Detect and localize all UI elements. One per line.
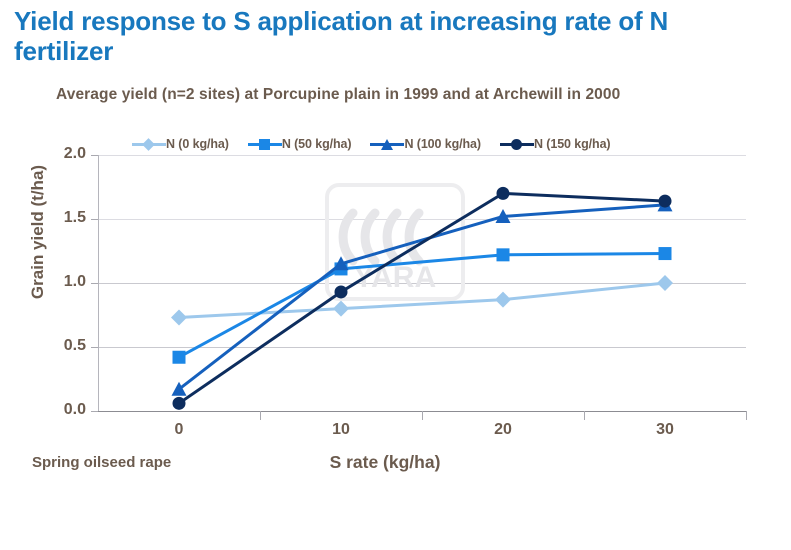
x-tick-boundary-3 (584, 411, 585, 420)
y-tick-label-0-5: 0.5 (42, 337, 86, 355)
y-tick-1-5 (91, 219, 98, 220)
y-tick-label-1-5: 1.5 (42, 209, 86, 227)
y-tick-0-0 (91, 411, 98, 412)
x-tick-boundary-1 (260, 411, 261, 420)
x-tick-label-0: 0 (149, 421, 209, 439)
gridline-2-0 (98, 155, 746, 156)
y-tick-2-0 (91, 155, 98, 156)
plot-area (98, 155, 746, 411)
legend-marker-diamond-icon (132, 137, 166, 151)
x-tick-label-10: 10 (311, 421, 371, 439)
legend-label-n0: N (0 kg/ha) (166, 137, 229, 151)
legend-label-n150: N (150 kg/ha) (534, 137, 611, 151)
y-tick-label-1-0: 1.0 (42, 273, 86, 291)
y-axis-title: Grain yield (t/ha) (28, 132, 48, 332)
legend-item-n150[interactable]: N (150 kg/ha) (500, 137, 611, 151)
legend-item-n0[interactable]: N (0 kg/ha) (132, 137, 229, 151)
y-axis-line (98, 155, 99, 412)
gridline-0-5 (98, 347, 746, 348)
legend-item-n100[interactable]: N (100 kg/ha) (370, 137, 481, 151)
y-tick-1-0 (91, 283, 98, 284)
legend-marker-circle-icon (500, 137, 534, 151)
legend-label-n50: N (50 kg/ha) (282, 137, 352, 151)
legend-marker-square-icon (248, 137, 282, 151)
x-tick-boundary-4 (746, 411, 747, 420)
legend-marker-triangle-icon (370, 137, 404, 151)
x-tick-label-20: 20 (473, 421, 533, 439)
y-tick-0-5 (91, 347, 98, 348)
legend-label-n100: N (100 kg/ha) (404, 137, 481, 151)
x-tick-label-30: 30 (635, 421, 695, 439)
crop-label: Spring oilseed rape (32, 454, 171, 471)
x-tick-boundary-2 (422, 411, 423, 420)
y-tick-label-2-0: 2.0 (42, 145, 86, 163)
gridline-1-0 (98, 283, 746, 284)
gridline-1-5 (98, 219, 746, 220)
page-title: Yield response to S application at incre… (14, 6, 694, 66)
chart-subtitle: Average yield (n=2 sites) at Porcupine p… (56, 86, 776, 104)
legend-item-n50[interactable]: N (50 kg/ha) (248, 137, 352, 151)
chart-legend: N (0 kg/ha) N (50 kg/ha) N (100 kg/ha) N… (132, 134, 611, 154)
y-tick-label-0-0: 0.0 (42, 401, 86, 419)
x-axis-title: S rate (kg/ha) (275, 452, 495, 473)
